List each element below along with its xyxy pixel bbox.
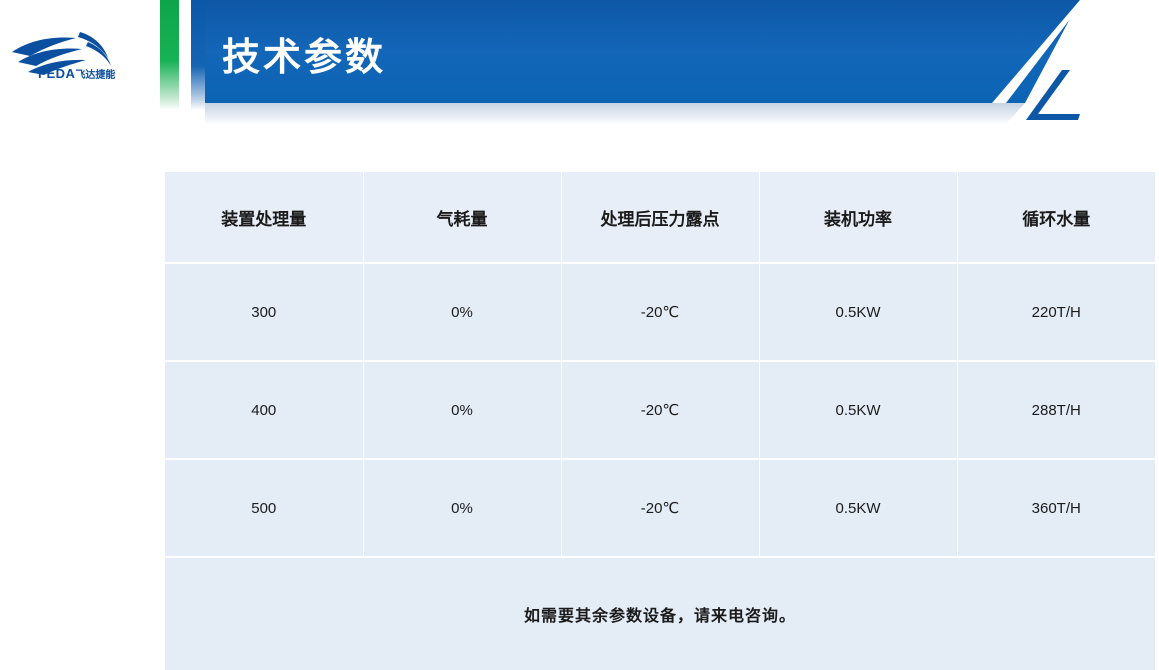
table-cell: 360T/H: [957, 459, 1155, 557]
accent-bar-gap: [179, 0, 191, 110]
table-cell: -20℃: [561, 361, 759, 459]
table-row: 300 0% -20℃ 0.5KW 220T/H: [165, 263, 1155, 361]
table-header-cell: 循环水量: [957, 172, 1155, 263]
table-cell: 400: [165, 361, 363, 459]
table-cell: 0%: [363, 459, 561, 557]
table-cell: 220T/H: [957, 263, 1155, 361]
wing-logo-icon: FEDA飞达捷能: [8, 22, 158, 88]
table-row: 500 0% -20℃ 0.5KW 360T/H: [165, 459, 1155, 557]
table-header-cell: 装置处理量: [165, 172, 363, 263]
table-header-row: 装置处理量 气耗量 处理后压力露点 装机功率 循环水量: [165, 172, 1155, 263]
table-cell: 0%: [363, 361, 561, 459]
table-cell: 0.5KW: [759, 459, 957, 557]
table-head: 装置处理量 气耗量 处理后压力露点 装机功率 循环水量: [165, 172, 1155, 263]
accent-bar-blue: [191, 0, 205, 110]
table-cell: 288T/H: [957, 361, 1155, 459]
table-note: 如需要其余参数设备，请来电咨询。: [165, 557, 1155, 670]
table-header-cell: 气耗量: [363, 172, 561, 263]
logo-zone: FEDA飞达捷能: [0, 0, 160, 110]
accent-bar-green: [160, 0, 179, 110]
logo-wordmark: FEDA飞达捷能: [38, 66, 115, 81]
table-body: 300 0% -20℃ 0.5KW 220T/H 400 0% -20℃ 0.5…: [165, 263, 1155, 670]
banner-underline-decoration-icon: [952, 70, 1082, 122]
table-header-cell: 装机功率: [759, 172, 957, 263]
table-cell: 0.5KW: [759, 361, 957, 459]
table-cell: -20℃: [561, 459, 759, 557]
parameters-table: 装置处理量 气耗量 处理后压力露点 装机功率 循环水量 300 0% -20℃ …: [165, 172, 1155, 670]
logo-brand-cn: 飞达捷能: [75, 70, 115, 81]
table-cell: 0.5KW: [759, 263, 957, 361]
table-cell: 300: [165, 263, 363, 361]
parameters-table-wrap: 装置处理量 气耗量 处理后压力露点 装机功率 循环水量 300 0% -20℃ …: [165, 172, 1155, 649]
title-banner-shadow: [205, 103, 1025, 125]
table-cell: -20℃: [561, 263, 759, 361]
page-title: 技术参数: [222, 26, 386, 81]
logo-brand-latin: FEDA: [38, 66, 75, 81]
table-row: 400 0% -20℃ 0.5KW 288T/H: [165, 361, 1155, 459]
table-cell: 0%: [363, 263, 561, 361]
table-header-cell: 处理后压力露点: [561, 172, 759, 263]
page-header: FEDA飞达捷能 技术参数: [0, 0, 1159, 130]
table-cell: 500: [165, 459, 363, 557]
table-note-row: 如需要其余参数设备，请来电咨询。: [165, 557, 1155, 670]
